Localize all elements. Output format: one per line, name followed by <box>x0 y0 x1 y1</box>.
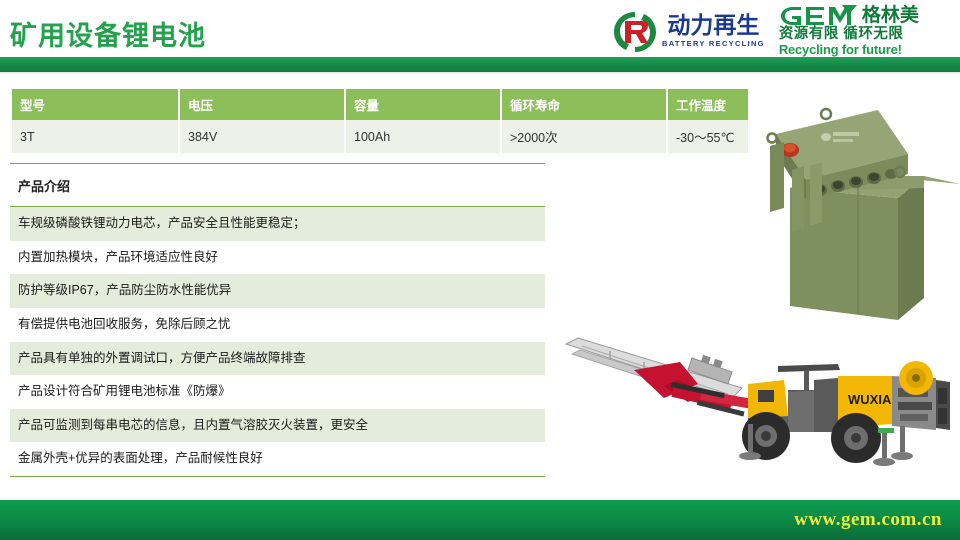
list-item: 有偿提供电池回收服务，免除后顾之忧 <box>10 308 545 342</box>
list-item: 防护等级IP67，产品防尘防水性能优异 <box>10 274 545 308</box>
gem-logo-text: 格林美 资源有限 循环无限 Recycling for future! <box>779 5 919 57</box>
dongli-logo: 动力再生 BATTERY RECYCLING <box>612 9 765 53</box>
gem-logo-row-top: 格林美 <box>779 5 919 27</box>
page-title: 矿用设备锂电池 <box>10 14 206 53</box>
cell-temperature: -30～55℃ <box>668 120 748 153</box>
list-item: 金属外壳+优异的表面处理，产品耐候性良好 <box>10 442 545 476</box>
col-header-voltage: 电压 <box>180 89 344 120</box>
cell-capacity: 100Ah <box>346 120 500 153</box>
specification-table: 型号 电压 容量 循环寿命 工作温度 3T 384V 100Ah >2000次 … <box>10 89 750 153</box>
header-green-band <box>0 57 960 72</box>
col-header-capacity: 容量 <box>346 89 500 120</box>
col-header-temperature: 工作温度 <box>668 89 748 120</box>
list-item: 产品可监测到每串电芯的信息，且内置气溶胶灭火装置，更安全 <box>10 409 545 443</box>
list-item: 产品设计符合矿用锂电池标准《防爆》 <box>10 375 545 409</box>
gem-wordmark-icon <box>779 5 857 27</box>
product-introduction-block: 产品介绍 车规级磷酸铁锂动力电芯，产品安全且性能更稳定； 内置加热模块，产品环境… <box>10 163 545 477</box>
mining-drill-rig-photo: WUXIA <box>552 332 957 492</box>
list-item: 车规级磷酸铁锂动力电芯，产品安全且性能更稳定； <box>10 207 545 241</box>
list-item: 产品具有单独的外置调试口，方便产品终端故障排查 <box>10 342 545 376</box>
dongli-logo-chinese: 动力再生 <box>667 14 759 37</box>
gem-logo-english: Recycling for future! <box>779 43 919 57</box>
col-header-model: 型号 <box>12 89 178 120</box>
logo-group: 动力再生 BATTERY RECYCLING 格林美 资源有限 循环无限 Rec… <box>612 6 919 56</box>
cell-cycle-life: >2000次 <box>502 120 666 153</box>
table-header-row: 型号 电压 容量 循环寿命 工作温度 <box>12 89 748 120</box>
footer-website-url: www.gem.com.cn <box>794 509 942 531</box>
cell-voltage: 384V <box>180 120 344 153</box>
intro-rule-bottom <box>10 476 545 477</box>
mining-battery-box-photo <box>748 92 960 320</box>
intro-heading: 产品介绍 <box>10 164 545 206</box>
slide-canvas: 矿用设备锂电池 动力再生 BATTERY RECYCLING <box>0 0 960 540</box>
dongli-logo-english: BATTERY RECYCLING <box>662 40 765 48</box>
list-item: 内置加热模块，产品环境适应性良好 <box>10 241 545 275</box>
dongli-logo-text: 动力再生 BATTERY RECYCLING <box>662 14 765 48</box>
rig-brand-text: WUXIA <box>848 392 892 407</box>
table-row: 3T 384V 100Ah >2000次 -30～55℃ <box>12 120 748 153</box>
header-band-shadow <box>0 72 960 75</box>
dongli-recycling-r-logo-icon <box>612 9 658 53</box>
cell-model: 3T <box>12 120 178 153</box>
gem-logo: 格林美 资源有限 循环无限 Recycling for future! <box>779 5 919 57</box>
col-header-cycle-life: 循环寿命 <box>502 89 666 120</box>
gem-logo-slogan: 资源有限 循环无限 <box>779 27 919 43</box>
gem-logo-chinese: 格林美 <box>862 6 919 27</box>
